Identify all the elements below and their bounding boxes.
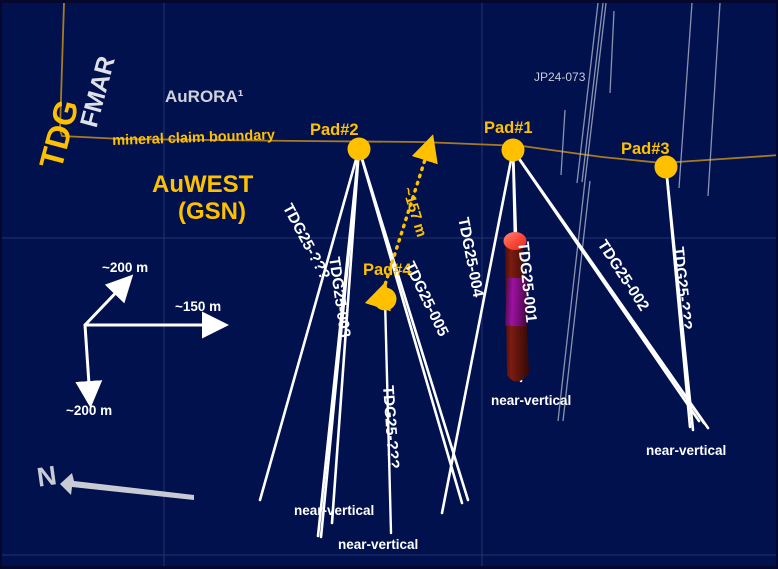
drill-trace-pad4 (385, 299, 391, 533)
scale-bar (85, 281, 220, 399)
pad-marker-pad4 (374, 288, 397, 311)
map-canvas (2, 3, 778, 569)
pad-marker-pad1 (502, 139, 525, 162)
pad-marker-pad3 (655, 156, 678, 179)
drill-plan-map: TDG FMAR AuRORA¹ AuWEST (GSN) mineral cl… (0, 0, 778, 569)
historic-drill-traces (558, 3, 720, 421)
mineral-claim-boundary-line (60, 3, 778, 163)
core-cylinder-tdg25-001 (504, 232, 530, 382)
pad-marker-pad2 (348, 138, 371, 161)
north-arrow (60, 473, 194, 500)
distance-arrow (383, 144, 430, 291)
drill-traces-pad2 (260, 149, 468, 537)
